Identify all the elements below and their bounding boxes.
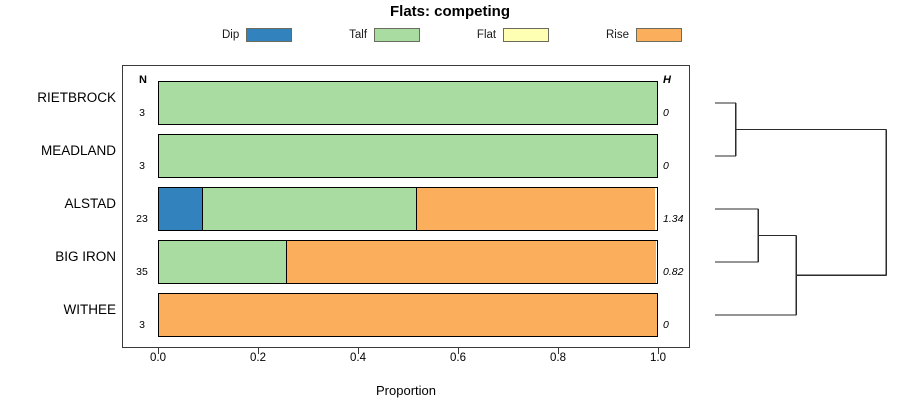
legend-swatch-rise-icon xyxy=(636,28,682,42)
x-tick-label: 0.0 xyxy=(150,352,166,364)
row-n-value: 23 xyxy=(129,213,155,225)
bar-segment-talf[interactable] xyxy=(202,188,418,230)
x-axis-title: Proportion xyxy=(122,383,690,398)
bar-segment-rise[interactable] xyxy=(286,241,656,283)
x-tick-label: 1.0 xyxy=(650,352,666,364)
stacked-bar[interactable] xyxy=(158,240,658,284)
legend-swatch-dip-icon xyxy=(246,28,292,42)
stacked-bar[interactable] xyxy=(158,81,658,125)
x-tick-label: 0.2 xyxy=(250,352,266,364)
row-label-withee: WITHEE xyxy=(6,302,116,317)
x-tick-label: 0.4 xyxy=(350,352,366,364)
x-tick-label: 0.6 xyxy=(450,352,466,364)
bar-segment-dip[interactable] xyxy=(159,188,202,230)
legend-item-flat[interactable]: Flat xyxy=(477,28,549,42)
row-label-big-iron: BIG IRON xyxy=(6,249,116,264)
legend-label: Rise xyxy=(606,29,629,41)
bar-segment-talf[interactable] xyxy=(159,241,287,283)
stacked-bar[interactable] xyxy=(158,293,658,337)
chart-title: Flats: competing xyxy=(0,3,900,20)
legend: DipTalfFlatRise xyxy=(222,26,682,44)
bar-segment-talf[interactable] xyxy=(159,82,657,124)
column-header-h: H xyxy=(663,74,687,86)
legend-label: Talf xyxy=(349,29,367,41)
legend-label: Flat xyxy=(477,29,496,41)
row-label-alstad: ALSTAD xyxy=(6,196,116,211)
row-n-value: 3 xyxy=(129,319,155,331)
dendrogram xyxy=(690,60,900,355)
row-n-value: 3 xyxy=(129,160,155,172)
legend-label: Dip xyxy=(222,29,239,41)
x-tick-label: 0.8 xyxy=(550,352,566,364)
legend-item-talf[interactable]: Talf xyxy=(349,28,420,42)
legend-swatch-flat-icon xyxy=(503,28,549,42)
bar-segment-talf[interactable] xyxy=(159,135,657,177)
bar-segment-rise[interactable] xyxy=(159,294,657,336)
stacked-bar[interactable] xyxy=(158,187,658,231)
column-header-n: N xyxy=(131,74,155,86)
row-n-value: 35 xyxy=(129,266,155,278)
chart-root: Flats: competing DipTalfFlatRise N H RIE… xyxy=(0,0,900,420)
row-n-value: 3 xyxy=(129,107,155,119)
dendrogram-svg xyxy=(690,60,900,355)
legend-swatch-talf-icon xyxy=(374,28,420,42)
bar-segment-rise[interactable] xyxy=(416,188,655,230)
x-axis-tick-labels: 0.00.20.40.60.81.0 xyxy=(122,352,690,368)
row-label-meadland: MEADLAND xyxy=(6,143,116,158)
stacked-bar[interactable] xyxy=(158,134,658,178)
legend-item-dip[interactable]: Dip xyxy=(222,28,292,42)
legend-item-rise[interactable]: Rise xyxy=(606,28,682,42)
row-label-rietbrock: RIETBROCK xyxy=(6,90,116,105)
